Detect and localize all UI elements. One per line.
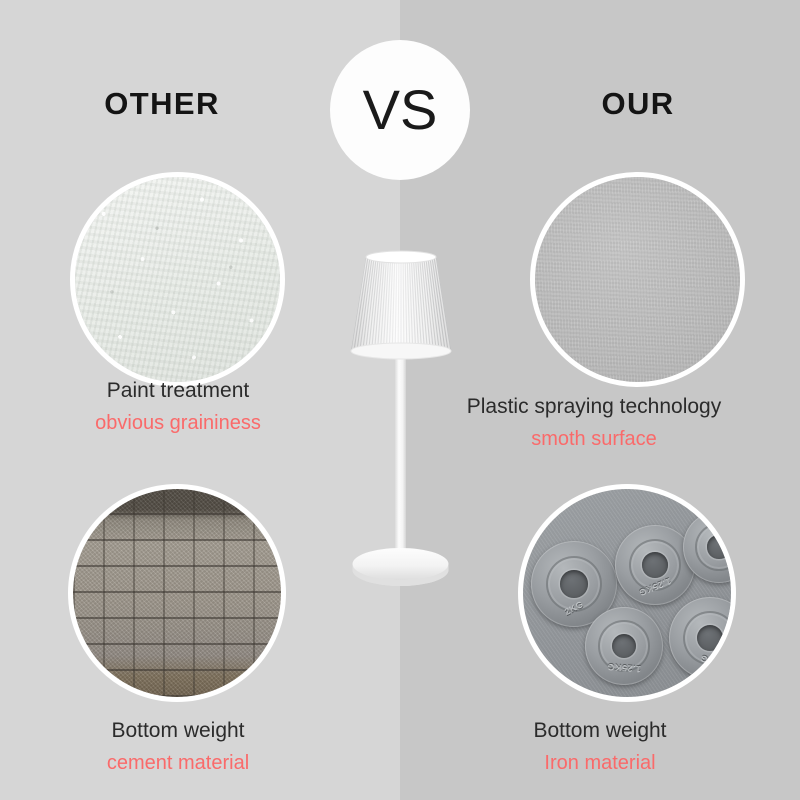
caption-detail: cement material	[0, 749, 378, 777]
caption-detail: Iron material	[400, 749, 800, 777]
swatch-cement-blocks	[68, 484, 286, 702]
weight-plate: 2KG	[669, 597, 736, 679]
swatch-paint-treatment	[70, 172, 285, 387]
caption-title: Bottom weight	[400, 717, 800, 745]
floor-lamp-svg	[333, 248, 469, 613]
vs-label: VS	[363, 82, 438, 138]
iron-plates-fill: 2KG1.25KG1.25KG2KG	[523, 489, 731, 697]
caption-cement-material: Bottom weight cement material	[0, 717, 378, 777]
lamp-pole	[395, 344, 406, 566]
weight-plate: 1.25KG	[615, 525, 695, 605]
weight-plate-label: 1.25KG	[607, 662, 642, 674]
vs-badge: VS	[330, 40, 470, 180]
weight-plate-label: 1.25KG	[637, 576, 672, 598]
paint-texture-fill	[75, 177, 280, 382]
heading-our: OUR	[438, 84, 800, 124]
stone-blocks-fill	[73, 489, 281, 697]
smooth-texture-fill	[535, 177, 740, 382]
lamp-base-top	[353, 548, 449, 580]
caption-paint-treatment: Paint treatment obvious graininess	[0, 377, 378, 437]
caption-title: Bottom weight	[0, 717, 378, 745]
caption-title: Paint treatment	[0, 377, 378, 405]
caption-iron-material: Bottom weight Iron material	[400, 717, 800, 777]
weight-plate-label: 2KG	[563, 599, 585, 617]
caption-detail: obvious graininess	[0, 409, 378, 437]
swatch-plastic-spraying	[530, 172, 745, 387]
weight-plate-label: 2KG	[699, 653, 721, 669]
heading-other: OTHER	[0, 84, 362, 124]
comparison-infographic: OTHER OUR VS 2KG1.25KG1.25KG2KG Paint tr…	[0, 0, 800, 800]
swatch-iron-plates: 2KG1.25KG1.25KG2KG	[518, 484, 736, 702]
weight-plate: 1.25KG	[585, 607, 663, 685]
floor-lamp-illustration	[333, 248, 469, 613]
